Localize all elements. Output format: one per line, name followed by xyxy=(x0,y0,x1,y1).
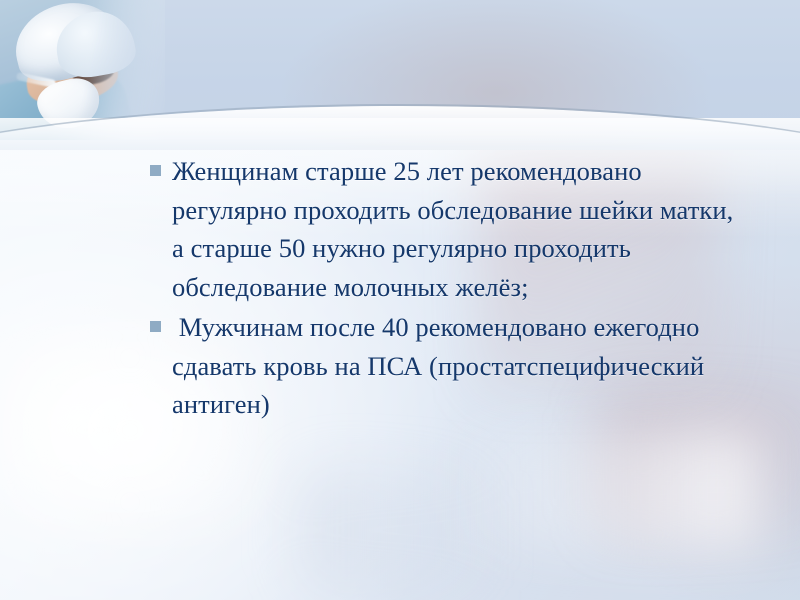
photo-fade-overlay xyxy=(0,0,165,140)
presentation-slide: Женщинам старше 25 лет рекомендовано рег… xyxy=(0,0,800,600)
background-blur-shape-white-band xyxy=(430,430,760,550)
background-blur-shape-center-lower xyxy=(300,470,500,590)
surgeon-photo xyxy=(0,0,165,140)
bullet-text-men-psa: Мужчинам после 40 рекомендовано ежегодно… xyxy=(172,308,750,424)
list-item: Мужчинам после 40 рекомендовано ежегодно… xyxy=(150,308,750,424)
list-item: Женщинам старше 25 лет рекомендовано рег… xyxy=(150,152,750,306)
bullet-text-women-screening: Женщинам старше 25 лет рекомендовано рег… xyxy=(172,152,750,306)
slide-body: Женщинам старше 25 лет рекомендовано рег… xyxy=(150,152,750,426)
slide-header-band xyxy=(0,0,800,150)
square-bullet-icon xyxy=(150,321,161,332)
square-bullet-icon xyxy=(150,165,161,176)
